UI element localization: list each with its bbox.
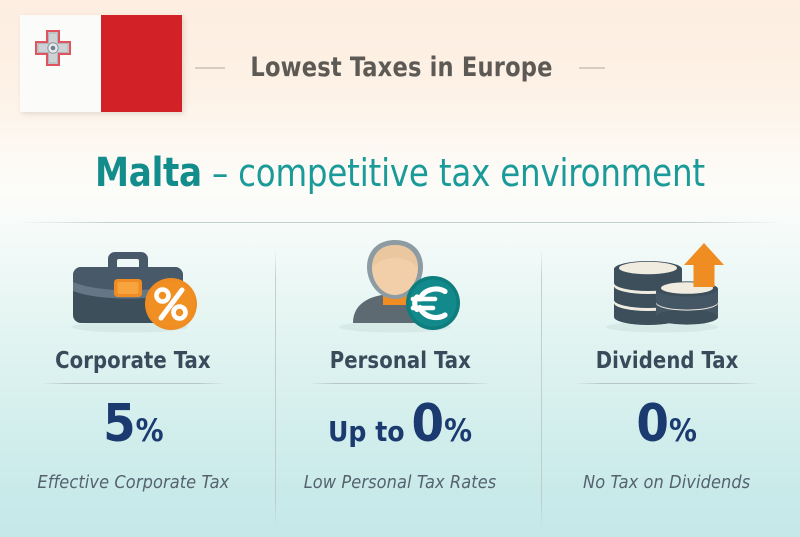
eyebrow-heading-row: Lowest Taxes in Europe — [0, 52, 800, 83]
person-euro-icon — [325, 231, 475, 336]
section-divider — [22, 222, 778, 223]
personal-value: Up to 0 % — [328, 398, 472, 450]
dividend-heading-rule — [577, 383, 757, 384]
dividend-icon-area — [533, 232, 800, 340]
eyebrow-rule-right — [579, 67, 605, 69]
corporate-caption: Effective Corporate Tax — [37, 472, 229, 493]
briefcase-percent-icon — [58, 231, 208, 336]
eyebrow-heading: Lowest Taxes in Europe — [251, 52, 553, 83]
personal-value-number: 0 — [412, 398, 444, 450]
dividend-value-suffix: % — [669, 416, 697, 447]
tax-columns: Corporate Tax 5 % Effective Corporate Ta… — [0, 232, 800, 532]
dividend-heading: Dividend Tax — [595, 348, 738, 374]
tax-column-corporate: Corporate Tax 5 % Effective Corporate Ta… — [0, 232, 267, 532]
tax-column-personal: Personal Tax Up to 0 % Low Personal Tax … — [267, 232, 534, 532]
personal-heading: Personal Tax — [329, 348, 470, 374]
personal-caption: Low Personal Tax Rates — [304, 472, 497, 493]
tax-column-dividend: Dividend Tax 0 % No Tax on Dividends — [533, 232, 800, 532]
page-title: Malta – competitive tax environment — [0, 150, 800, 196]
dividend-value-number: 0 — [636, 398, 668, 450]
corporate-heading: Corporate Tax — [56, 348, 212, 374]
page-title-brand: Malta — [95, 150, 202, 196]
arrow-up-shape — [684, 243, 724, 287]
page-title-rest: – competitive tax environment — [202, 151, 705, 195]
eyebrow-rule-left — [195, 67, 225, 69]
corporate-value-suffix: % — [136, 416, 164, 447]
infographic-canvas: Lowest Taxes in Europe Malta – competiti… — [0, 0, 800, 537]
personal-value-suffix: % — [444, 416, 472, 447]
corporate-value-number: 5 — [103, 398, 135, 450]
personal-heading-rule — [310, 383, 490, 384]
corporate-icon-area — [0, 232, 267, 340]
dividend-caption: No Tax on Dividends — [583, 472, 750, 493]
corporate-value: 5 % — [103, 398, 164, 450]
page-title-inner: Malta – competitive tax environment — [95, 150, 705, 196]
coins-arrow-up-icon — [592, 231, 742, 336]
personal-value-prefix: Up to — [328, 418, 405, 446]
corporate-heading-rule — [43, 383, 223, 384]
dividend-value: 0 % — [636, 398, 697, 450]
personal-icon-area — [267, 232, 534, 340]
